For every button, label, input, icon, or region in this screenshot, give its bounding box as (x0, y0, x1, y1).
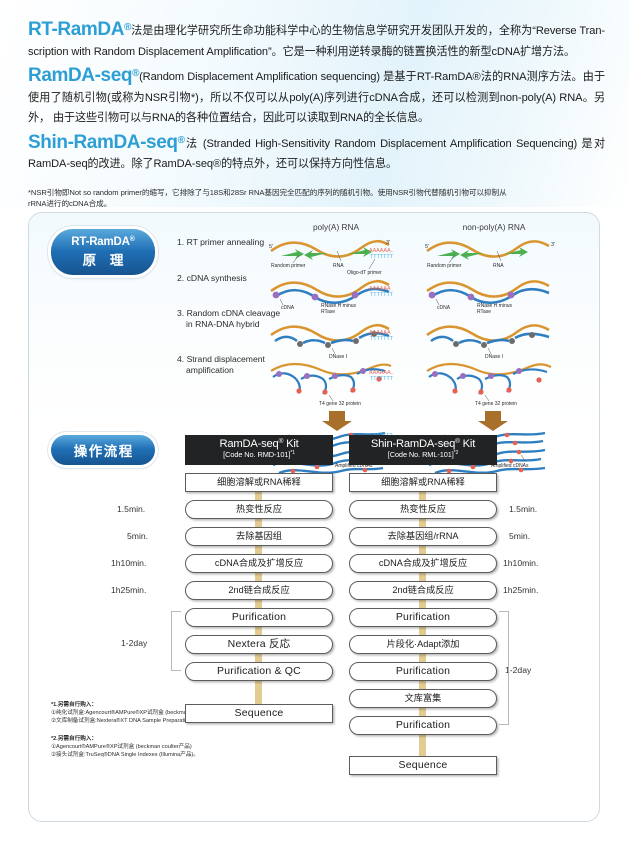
t4-gene-32-protein-label: T4 gene 32 protein (319, 401, 361, 407)
workflow-node: Purification (349, 608, 497, 627)
intro-p3-line1: 法 (Stranded High-Sensitivity Random Disp… (185, 138, 605, 150)
workflow-node: cDNA合成及扩增反应 (185, 554, 333, 573)
nonpolya-rna-diagram: 5' 3' Random primer RNA cDNA RNase H min… (425, 237, 569, 413)
step-num: 2. (177, 273, 184, 283)
svg-text:TTTTTTT: TTTTTTT (370, 376, 394, 382)
workflow-bracket-left (171, 611, 181, 671)
workflow-section: 操作流程 RamDA-seq® Kit [Code No. RMD-101]*1… (29, 421, 599, 821)
kit-name: Shin-RamDA-seq® Kit (349, 438, 497, 450)
workflow-node: 2nd链合成反应 (185, 581, 333, 600)
brand-rt-ramda: RT-RamDA® (28, 19, 131, 40)
workflow-node: Purification (349, 662, 497, 681)
diagram-column-nonpolya: 5' 3' Random primer RNA cDNA RNase H min… (425, 237, 569, 409)
brand-shin-ramda-seq: Shin-RamDA-seq® (28, 132, 185, 153)
intro-p3-line2: RamDA-seq的改进。除了RamDA-seq®的特点外，还可以保持方向性信息… (28, 158, 397, 170)
poly-t-tail: TTTTTTT (370, 254, 394, 260)
workflow-time-label: 1-2day (121, 638, 147, 648)
workflow-node: Purification & QC (185, 662, 333, 681)
three-prime-label: 3' (386, 240, 390, 246)
step-text: cDNA synthesis (187, 273, 247, 283)
intro-p2-line3: 由于这些引物可以与RNA的各种位置结合，因此可以读取到RNA的全长信息。 (53, 112, 429, 124)
workflow-node: 片段化·Adapt添加 (349, 635, 497, 654)
workflow-node: Purification (185, 608, 333, 627)
kit-name: RamDA-seq® Kit (185, 438, 333, 450)
t4-gene-32-protein-label: T4 gene 32 protein (475, 401, 517, 407)
workflow-time-label: 5min. (127, 531, 148, 541)
kit-header-ramda-seq: RamDA-seq® Kit [Code No. RMD-101]*1 (185, 435, 333, 465)
step-text: Random cDNA cleavage (187, 308, 281, 318)
step-text: Strand displacement (187, 354, 265, 364)
workflow-time-label: 1h25min. (503, 585, 538, 595)
workflow-time-label: 1h25min. (111, 585, 146, 595)
workflow-bracket-right (499, 611, 509, 725)
nsr-footnote-line2: rRNA进行的cDNA合成。 (28, 198, 605, 209)
kit-code: [Code No. RML-101]*2 (349, 450, 497, 459)
workflow-node: 去除基因组/rRNA (349, 527, 497, 546)
intro-p1-line2: scription with Random Displacement Ampli… (28, 46, 575, 58)
diagram-column-polya: 3' 5' AAAAAA.. TTTTTTT Random primer RNA… (269, 237, 413, 409)
workflow-time-label: 1h10min. (503, 558, 538, 568)
step-num: 1. (177, 237, 184, 247)
cdna-label: cDNA (281, 305, 295, 311)
diagram-column-header-nonpolya: non-poly(A) RNA (429, 222, 559, 232)
cdna-label: cDNA (437, 305, 451, 311)
footnote-2-line1: ①Agencourt®AMPure®XP试剂盒 (beckman coulter… (51, 743, 199, 751)
intro-p1-line1: 法是由理化学研究所生命功能科学中心的生物信息学研究开发团队开发的，全称为“Rev… (131, 25, 605, 37)
workflow-node: Sequence (185, 704, 333, 723)
workflow-badge-label: 操作流程 (72, 440, 134, 460)
intro-paragraph-2: RamDA-seq®(Random Displacement Amplifica… (28, 64, 605, 129)
content-card: RT-RamDA® 原 理 1. RT primer annealing 2. … (28, 212, 600, 822)
intro-section: RT-RamDA®法是由理化学研究所生命功能科学中心的生物信息学研究开发团队开发… (0, 0, 629, 207)
step-num: 3. (177, 308, 184, 318)
workflow-node: 去除基因组 (185, 527, 333, 546)
workflow-node: cDNA合成及扩增反应 (349, 554, 497, 573)
workflow-time-label: 1.5min. (509, 504, 537, 514)
svg-text:TTTTTTT: TTTTTTT (370, 292, 394, 298)
workflow-node: 2nd链合成反应 (349, 581, 497, 600)
dnase-i-label: DNase I (329, 354, 347, 360)
kit-code: [Code No. RMD-101]*1 (185, 450, 333, 459)
workflow-node: Purification (349, 716, 497, 735)
brand-ramda-seq: RamDA-seq® (28, 65, 139, 86)
principle-badge-line1: RT-RamDA® (71, 236, 134, 248)
footnote-block-2: *2.另需自行购入： ①Agencourt®AMPure®XP试剂盒 (beck… (51, 735, 199, 760)
polya-rna-diagram: 3' 5' AAAAAA.. TTTTTTT Random primer RNA… (269, 237, 413, 413)
kit-header-shin-ramda-seq: Shin-RamDA-seq® Kit [Code No. RML-101]*2 (349, 435, 497, 465)
workflow-node: 细胞溶解或RNA稀释 (185, 473, 333, 492)
workflow-node: 热变性反应 (185, 500, 333, 519)
rna-label: RNA (493, 263, 504, 269)
workflow-time-label: 5min. (509, 531, 530, 541)
workflow-node: 热变性反应 (349, 500, 497, 519)
workflow-node: 文库富集 (349, 689, 497, 708)
svg-text:3': 3' (551, 242, 555, 248)
intro-p2-line1: (Random Displacement Amplification seque… (139, 71, 605, 83)
principle-badge-line2: 原 理 (78, 249, 129, 269)
rtase-label: RTase (321, 309, 335, 315)
intro-paragraph-1: RT-RamDA®法是由理化学研究所生命功能科学中心的生物信息学研究开发团队开发… (28, 18, 605, 62)
workflow-badge: 操作流程 (51, 435, 155, 465)
five-prime-label: 5' (269, 244, 273, 250)
rtase-label: RTase (477, 309, 491, 315)
svg-text:5': 5' (425, 244, 429, 250)
nsr-footnote-line1: *NSR引物即Not so random primer的缩写，它排除了与18S和… (28, 187, 605, 198)
footnote-2-head: *2.另需自行购入： (51, 735, 199, 743)
rna-label: RNA (333, 263, 344, 269)
random-primer-label: Random primer (427, 263, 462, 269)
workflow-time-label: 1.5min. (117, 504, 145, 514)
footnote-2-line2: ②接头试剂盒:TruSeq®DNA Single Indexes (Illumi… (51, 751, 199, 759)
random-primer-label: Random primer (271, 263, 306, 269)
workflow-node: 细胞溶解或RNA稀释 (349, 473, 497, 492)
oligo-dt-primer-label: Oligo-dT primer (347, 270, 382, 276)
nsr-footnote: *NSR引物即Not so random primer的缩写，它排除了与18S和… (28, 187, 605, 210)
intro-paragraph-3: Shin-RamDA-seq®法 (Stranded High-Sensitiv… (28, 131, 605, 175)
registered-mark: ® (178, 135, 185, 146)
svg-text:TTTTTTT: TTTTTTT (370, 336, 394, 342)
step-num: 4. (177, 354, 184, 364)
workflow-time-label: 1h10min. (111, 558, 146, 568)
dnase-i-label: DNase I (485, 354, 503, 360)
registered-mark: ® (124, 22, 131, 33)
workflow-node: Sequence (349, 756, 497, 775)
diagram-column-header-polya: poly(A) RNA (271, 222, 401, 232)
workflow-node: Nextera 反応 (185, 635, 333, 654)
principle-badge: RT-RamDA® 原 理 (51, 229, 155, 275)
step-text: RT primer annealing (187, 237, 265, 247)
